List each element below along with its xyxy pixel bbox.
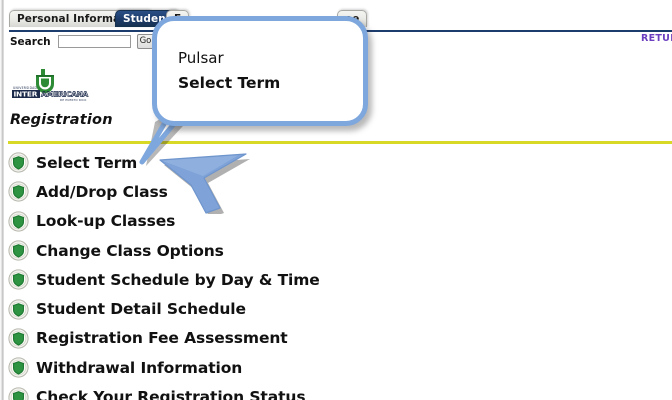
svg-text:DE PUERTO RICO: DE PUERTO RICO: [60, 98, 87, 102]
return-to-menu-link[interactable]: RETURN TO MENU: [641, 33, 672, 44]
menu-item-label: Add/Drop Class: [36, 183, 168, 201]
shield-bullet-icon: [8, 152, 29, 173]
shield-bullet-icon: [8, 181, 29, 202]
menu-item-change-class-options[interactable]: Change Class Options: [8, 236, 608, 265]
shield-bullet-icon: [8, 240, 29, 261]
menu-item-label: Check Your Registration Status: [36, 388, 305, 400]
shield-bullet-icon: [8, 357, 29, 378]
section-divider: [8, 141, 672, 144]
window-left-edge: [0, 0, 4, 400]
menu-item-label: Look-up Classes: [36, 212, 175, 230]
callout-line-1: Pulsar: [178, 46, 280, 71]
menu-item-label: Change Class Options: [36, 242, 224, 260]
shield-bullet-icon: [8, 211, 29, 232]
window-top-edge: [0, 0, 672, 7]
menu-item-add-drop-class[interactable]: Add/Drop Class: [8, 177, 608, 206]
search-input[interactable]: [58, 35, 131, 48]
menu-item-label: Select Term: [36, 154, 137, 172]
shield-bullet-icon: [8, 387, 29, 400]
search-label: Search: [10, 36, 51, 48]
registration-menu: Select Term Add/Drop Class: [8, 148, 608, 400]
callout-text: Pulsar Select Term: [178, 46, 280, 96]
menu-item-label: Student Schedule by Day & Time: [36, 271, 320, 289]
menu-item-label: Student Detail Schedule: [36, 300, 246, 318]
menu-item-student-detail-schedule[interactable]: Student Detail Schedule: [8, 294, 608, 323]
page-root: Personal Information Student F ee Search…: [0, 0, 672, 400]
menu-item-select-term[interactable]: Select Term: [8, 148, 608, 177]
university-logo: UNIVERSIDAD INTER AMERICANA DE PUERTO RI…: [10, 68, 90, 102]
callout-line-2: Select Term: [178, 71, 280, 96]
menu-item-label: Withdrawal Information: [36, 359, 242, 377]
callout-bubble: Pulsar Select Term: [152, 16, 368, 126]
menu-item-student-schedule-by-day-time[interactable]: Student Schedule by Day & Time: [8, 265, 608, 294]
menu-item-label: Registration Fee Assessment: [36, 329, 288, 347]
menu-item-look-up-classes[interactable]: Look-up Classes: [8, 207, 608, 236]
menu-item-check-your-registration-status[interactable]: Check Your Registration Status: [8, 382, 608, 400]
shield-bullet-icon: [8, 328, 29, 349]
shield-bullet-icon: [8, 299, 29, 320]
pointer-arrow-icon: [158, 152, 268, 214]
menu-item-registration-fee-assessment[interactable]: Registration Fee Assessment: [8, 324, 608, 353]
svg-text:INTER: INTER: [14, 90, 38, 99]
page-title: Registration: [10, 112, 113, 128]
menu-item-withdrawal-information[interactable]: Withdrawal Information: [8, 353, 608, 382]
shield-bullet-icon: [8, 269, 29, 290]
